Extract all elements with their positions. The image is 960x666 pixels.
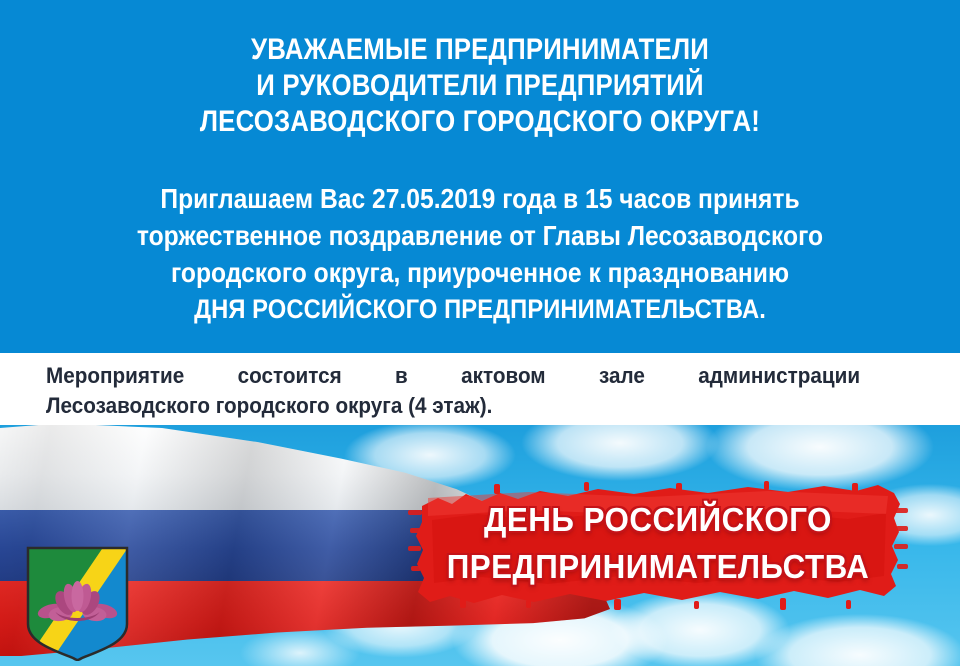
heading-line-3: ЛЕСОЗАВОДСКОГО ГОРОДСКОГО ОКРУГА! bbox=[67, 104, 893, 140]
venue-line-1: Мероприятие состоится в актовом зале адм… bbox=[46, 361, 860, 391]
banner-line-1: ДЕНЬ РОССИЙСКОГО bbox=[421, 496, 896, 543]
venue-line-2: Лесозаводского городского округа (4 этаж… bbox=[46, 391, 860, 421]
body-line-2: торжественное поздравление от Главы Лесо… bbox=[58, 217, 903, 254]
heading-line-2: И РУКОВОДИТЕЛИ ПРЕДПРИЯТИЙ bbox=[67, 68, 893, 104]
venue-text: Мероприятие состоится в актовом зале адм… bbox=[46, 361, 860, 421]
body-line-3: городского округа, приуроченное к праздн… bbox=[58, 254, 903, 291]
venue-band: Мероприятие состоится в актовом зале адм… bbox=[0, 353, 960, 425]
heading-line-1: УВАЖАЕМЫЕ ПРЕДПРИНИМАТЕЛИ bbox=[67, 32, 893, 68]
red-brush-banner: ДЕНЬ РОССИЙСКОГО ПРЕДПРИНИМАТЕЛЬСТВА bbox=[408, 480, 908, 612]
photo-banner-area: ДЕНЬ РОССИЙСКОГО ПРЕДПРИНИМАТЕЛЬСТВА bbox=[0, 425, 960, 666]
announcement-blue-panel: УВАЖАЕМЫЕ ПРЕДПРИНИМАТЕЛИ И РУКОВОДИТЕЛИ… bbox=[0, 0, 960, 353]
body-line-4: ДНЯ РОССИЙСКОГО ПРЕДПРИНИМАТЕЛЬСТВА. bbox=[58, 291, 903, 328]
banner-line-2: ПРЕДПРИНИМАТЕЛЬСТВА bbox=[421, 543, 896, 590]
coat-of-arms-icon bbox=[26, 546, 129, 661]
poster: УВАЖАЕМЫЕ ПРЕДПРИНИМАТЕЛИ И РУКОВОДИТЕЛИ… bbox=[0, 0, 960, 666]
body-line-1: Приглашаем Вас 27.05.2019 года в 15 часо… bbox=[58, 180, 903, 217]
banner-text: ДЕНЬ РОССИЙСКОГО ПРЕДПРИНИМАТЕЛЬСТВА bbox=[408, 496, 908, 590]
poster-heading: УВАЖАЕМЫЕ ПРЕДПРИНИМАТЕЛИ И РУКОВОДИТЕЛИ… bbox=[0, 32, 960, 140]
invitation-body: Приглашаем Вас 27.05.2019 года в 15 часо… bbox=[0, 180, 960, 328]
